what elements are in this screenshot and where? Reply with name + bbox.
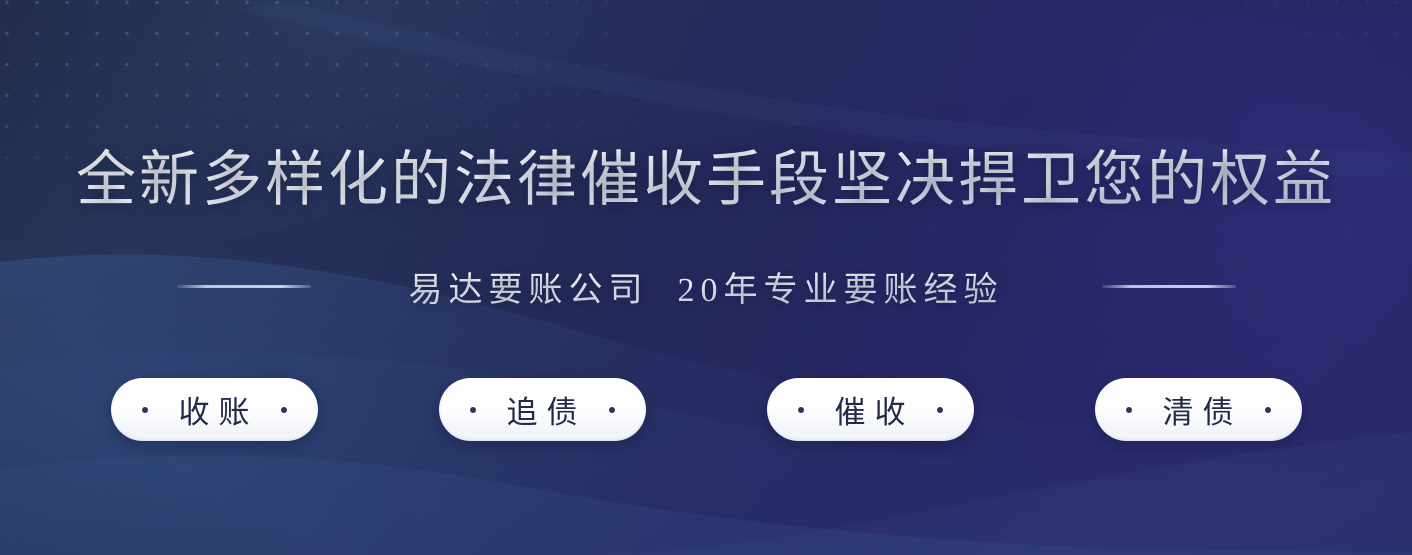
service-pill-label: 追债 [498,387,587,432]
service-pill-shouzhang[interactable]: 收账 [111,378,318,441]
service-pill-zhuizhai[interactable]: 追债 [439,378,646,441]
banner-subtitle: 易达要账公司 20年专业要账经验 [409,262,1004,311]
bullet-dot-icon [470,407,476,413]
bullet-dot-icon [281,407,287,413]
bullet-dot-icon [1126,407,1132,413]
service-pill-label: 清债 [1154,387,1243,432]
service-pill-cuishou[interactable]: 催收 [767,378,974,441]
service-pill-group: 收账 追债 催收 清债 [0,378,1412,441]
bullet-dot-icon [937,407,943,413]
service-pill-qingzhai[interactable]: 清债 [1095,378,1302,441]
banner-headline: 全新多样化的法律催收手段坚决捍卫您的权益 [0,148,1412,213]
decorative-rule-right [1102,285,1236,288]
banner-content: 全新多样化的法律催收手段坚决捍卫您的权益 易达要账公司 20年专业要账经验 收账… [0,0,1412,555]
service-pill-label: 催收 [826,387,915,432]
banner-subtitle-row: 易达要账公司 20年专业要账经验 [0,262,1412,311]
bullet-dot-icon [798,407,804,413]
bullet-dot-icon [142,407,148,413]
bullet-dot-icon [1265,407,1271,413]
service-pill-label: 收账 [170,387,259,432]
bullet-dot-icon [609,407,615,413]
promo-banner: 全新多样化的法律催收手段坚决捍卫您的权益 易达要账公司 20年专业要账经验 收账… [0,0,1412,555]
decorative-rule-left [177,285,311,288]
